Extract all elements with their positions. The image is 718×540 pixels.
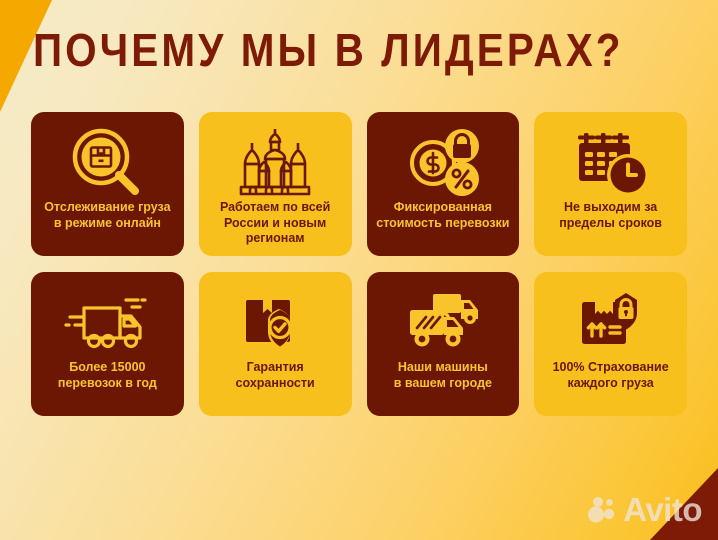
- two-trucks-icon: [399, 284, 487, 362]
- benefit-card-caption: Гарантия сохранности: [230, 360, 321, 391]
- benefit-card-caption: 100% Страхование каждого груза: [547, 360, 675, 391]
- benefit-card-caption: Более 15000 перевозок в год: [52, 360, 163, 391]
- box-arrows-shield-lock-icon: [570, 284, 652, 362]
- avito-dots-icon: [587, 495, 617, 525]
- benefit-card-volume: Более 15000 перевозок в год: [31, 272, 184, 416]
- benefit-card-caption: Наши машины в вашем городе: [388, 360, 498, 391]
- benefit-card-insurance: 100% Страхование каждого груза: [534, 272, 687, 416]
- benefit-card-caption: Работаем по всей России и новым регионам: [214, 200, 336, 247]
- package-magnifier-icon: [70, 124, 144, 202]
- benefit-card-caption: Фиксированная стоимость перевозки: [370, 200, 515, 231]
- benefit-card-tracking: Отслеживание груза в режиме онлайн: [31, 112, 184, 256]
- page-title: ПОЧЕМУ МЫ В ЛИДЕРАХ?: [33, 23, 624, 77]
- poster-canvas: ПОЧЕМУ МЫ В ЛИДЕРАХ? Отслеживание груза …: [0, 0, 718, 540]
- benefits-grid: Отслеживание груза в режиме онлайн: [31, 112, 687, 416]
- benefit-card-fixed-price: Фиксированная стоимость перевозки: [367, 112, 520, 256]
- benefit-card-deadlines: Не выходим за пределы сроков: [534, 112, 687, 256]
- avito-watermark: Avito: [587, 493, 702, 526]
- benefit-card-coverage: Работаем по всей России и новым регионам: [199, 112, 352, 256]
- saint-basils-cathedral-icon: [232, 124, 318, 202]
- benefit-card-safety: Гарантия сохранности: [199, 272, 352, 416]
- benefit-card-caption: Отслеживание груза в режиме онлайн: [38, 200, 176, 231]
- box-shield-check-icon: [235, 284, 315, 362]
- benefit-card-local-fleet: Наши машины в вашем городе: [367, 272, 520, 416]
- avito-wordmark: Avito: [623, 493, 702, 526]
- fast-truck-icon: [64, 284, 150, 362]
- dollar-coin-lock-percent-icon: [402, 124, 484, 202]
- benefit-card-caption: Не выходим за пределы сроков: [553, 200, 668, 231]
- calendar-clock-icon: [570, 124, 652, 202]
